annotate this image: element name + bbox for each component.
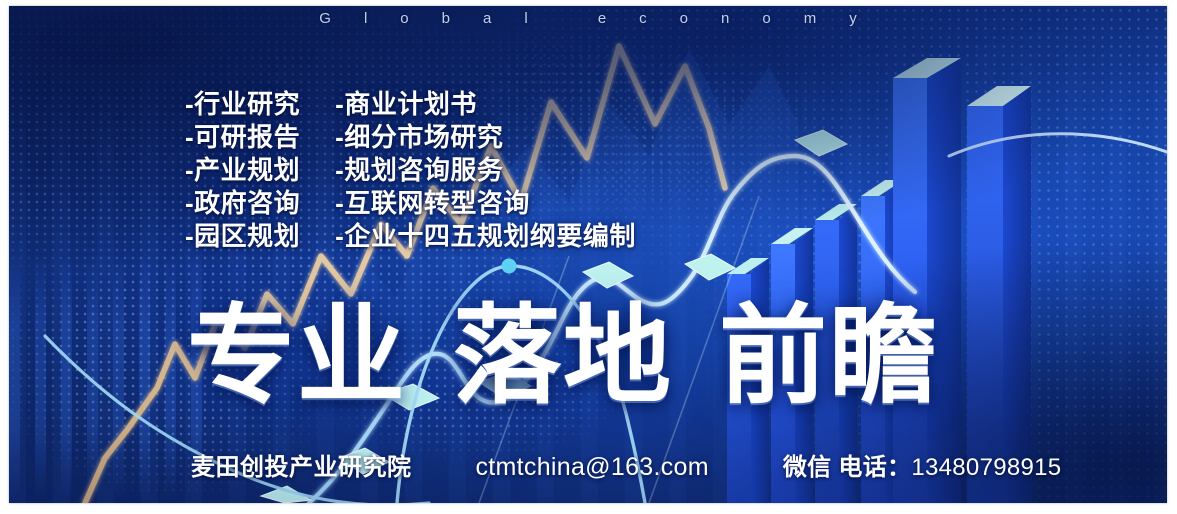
service-item: -产业规划 — [185, 155, 300, 185]
service-list-left: -行业研究 -可研报告 -产业规划 -政府咨询 -园区规划 — [185, 89, 300, 251]
service-item: -商业计划书 — [335, 89, 636, 119]
business-growth-chart — [9, 6, 1167, 503]
service-lists: -行业研究 -可研报告 -产业规划 -政府咨询 -园区规划 -商业计划书 -细分… — [185, 89, 636, 251]
headline-word-3: 前瞻 — [719, 302, 939, 410]
phone-contact: 微信 电话：13480798915 — [783, 447, 1062, 482]
headline-word-2: 落地 — [453, 302, 673, 410]
organization-name: 麦田创投产业研究院 — [191, 447, 412, 482]
contact-label: 微信 电话： — [783, 454, 911, 481]
service-item: -政府咨询 — [185, 188, 300, 218]
email-address: ctmtchina@163.com — [476, 453, 709, 482]
headline: 专业 落地 前瞻 — [187, 302, 939, 410]
service-item: -可研报告 — [185, 122, 300, 152]
service-list-right: -商业计划书 -细分市场研究 -规划咨询服务 -互联网转型咨询 -企业十四五规划… — [335, 89, 636, 251]
service-item: -互联网转型咨询 — [335, 188, 636, 218]
service-item: -企业十四五规划纲要编制 — [335, 221, 636, 251]
footer-contact-bar: 麦田创投产业研究院 ctmtchina@163.com 微信 电话：134807… — [191, 447, 1061, 482]
service-item: -行业研究 — [185, 89, 300, 119]
service-item: -细分市场研究 — [335, 122, 636, 152]
service-item: -规划咨询服务 — [335, 155, 636, 185]
headline-word-1: 专业 — [187, 302, 407, 410]
arc-dome-dot — [502, 259, 517, 274]
service-item: -园区规划 — [185, 221, 300, 251]
kicker-text: Global economy — [9, 10, 1167, 27]
phone-number: 13480798915 — [911, 454, 1061, 481]
poster-canvas: Global economy -行业研究 -可研报告 -产业规划 -政府咨询 -… — [9, 6, 1167, 503]
promotional-banner: Global economy -行业研究 -可研报告 -产业规划 -政府咨询 -… — [0, 0, 1177, 514]
